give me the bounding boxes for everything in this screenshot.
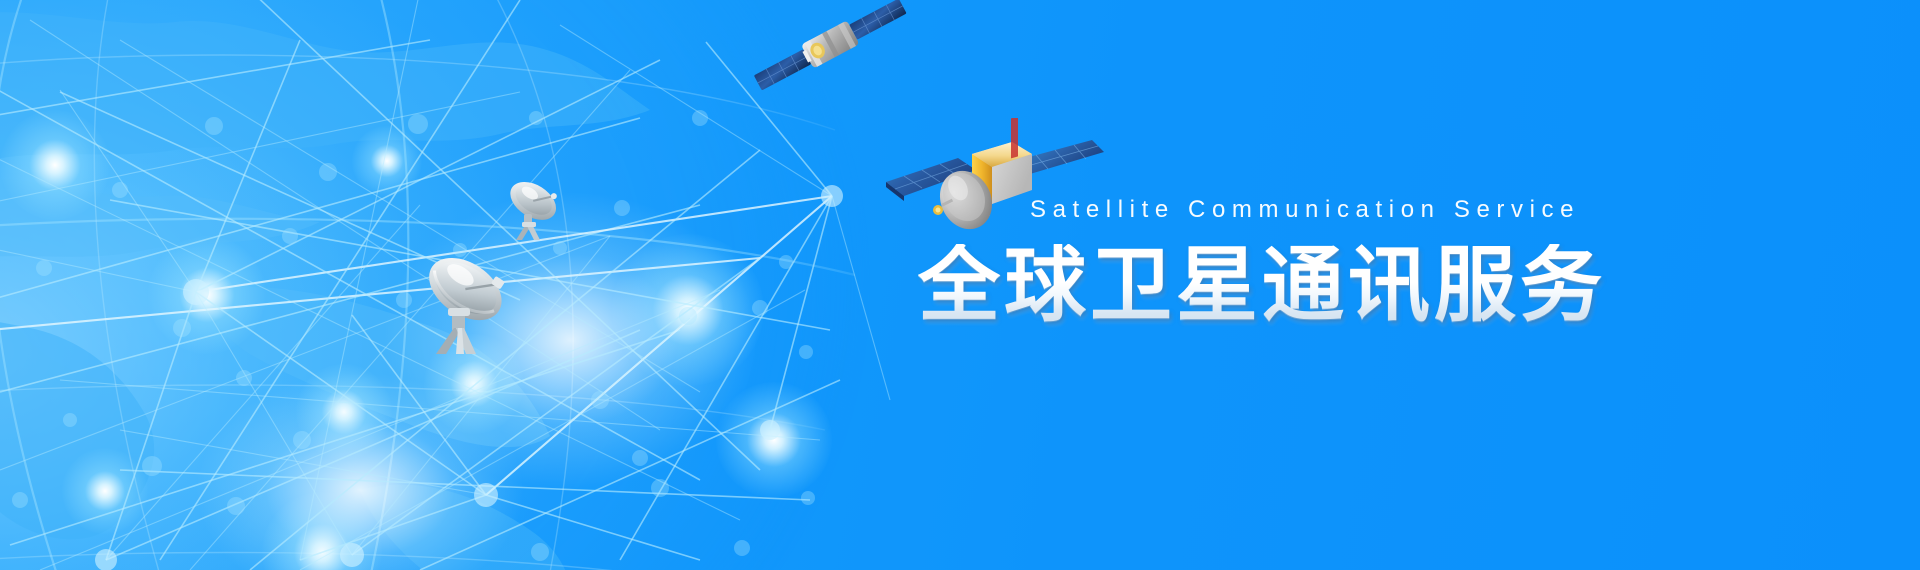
headline-block: Satellite Communication Service 全球卫星通讯服务 — [918, 198, 1678, 328]
mesh-links — [0, 0, 890, 570]
subhead-english: Satellite Communication Service — [918, 198, 1678, 222]
satellite-service-banner: Satellite Communication Service 全球卫星通讯服务 — [0, 0, 1920, 570]
headline-chinese: 全球卫星通讯服务 — [918, 244, 1678, 328]
